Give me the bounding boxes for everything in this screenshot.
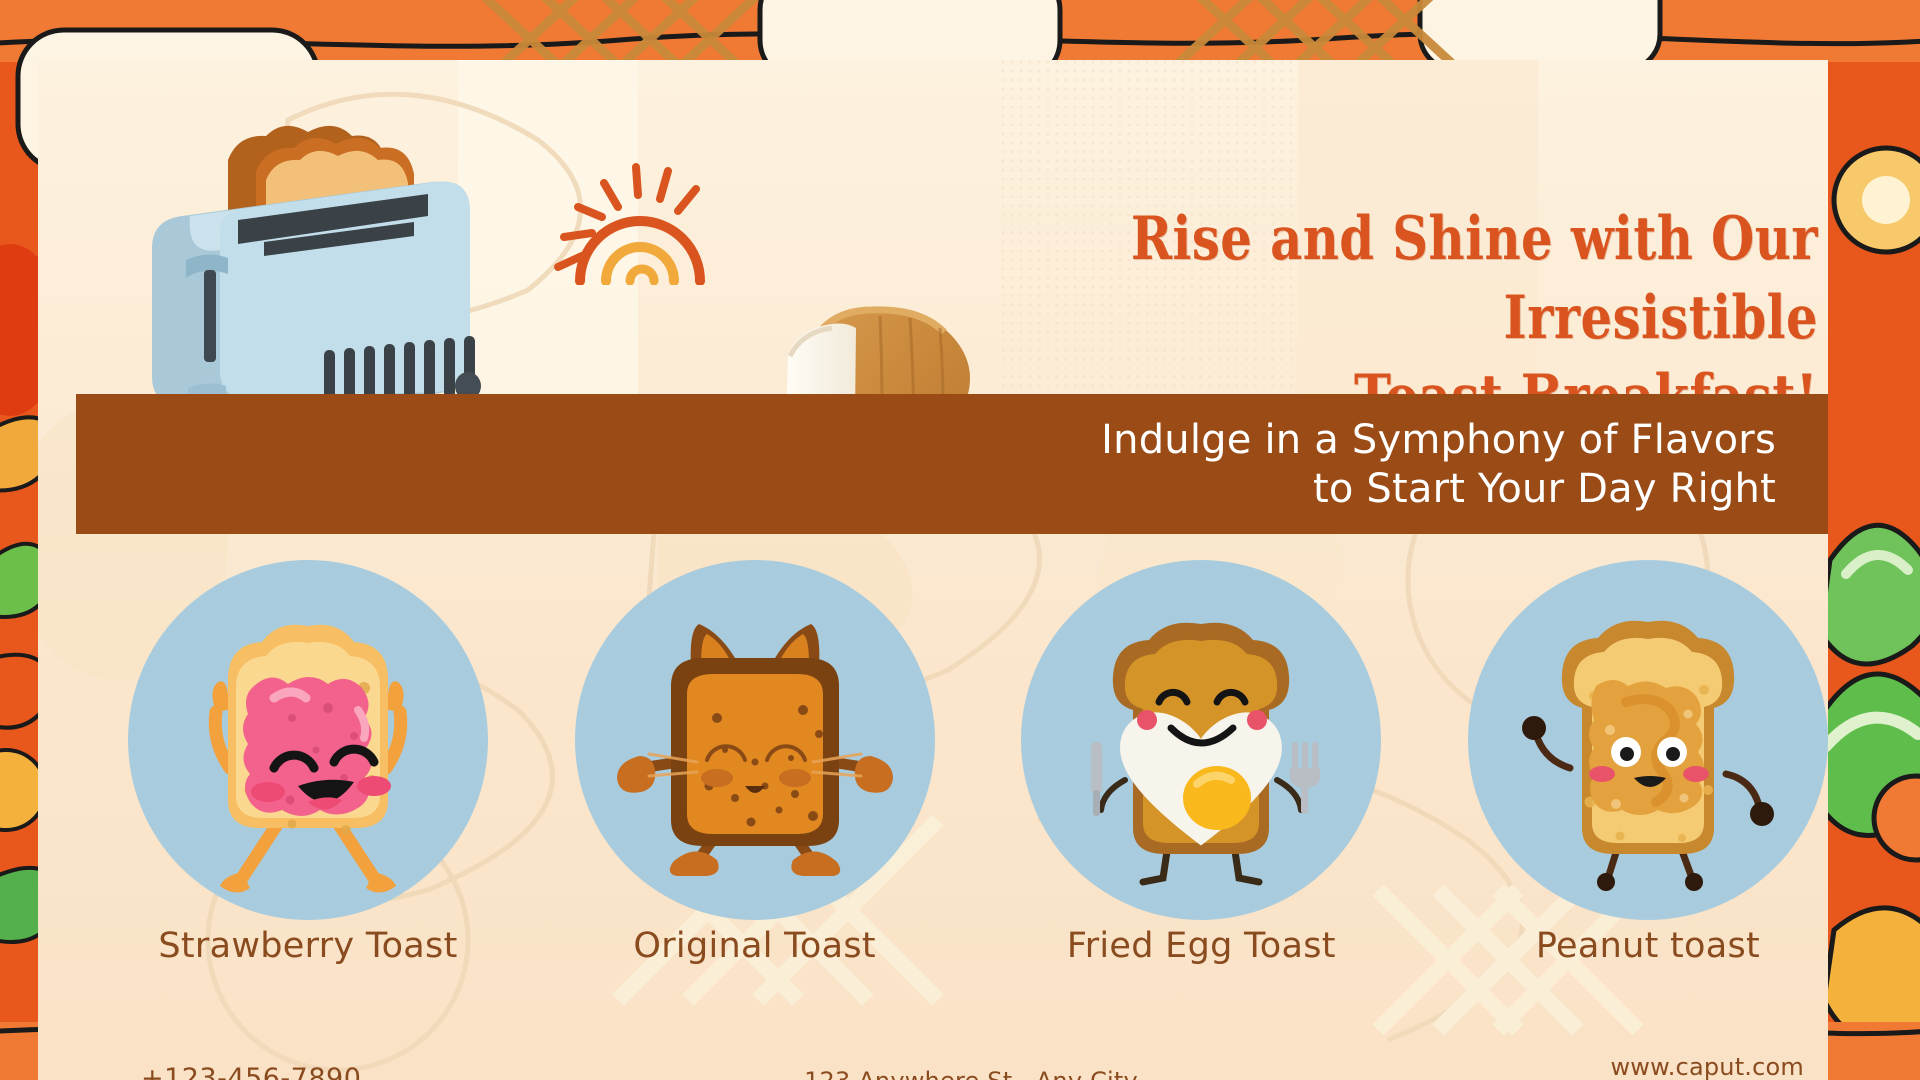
subtitle-line-1: Indulge in a Symphony of Flavors [876,416,1776,465]
product-disc [1021,560,1381,920]
footer-website[interactable]: www.caput.com [1610,1053,1804,1080]
strawberry-toast-mascot-icon [158,590,458,890]
fried-egg-toast-mascot-icon [1051,590,1351,890]
product-item-peanut-toast[interactable]: Peanut toast [1438,560,1828,966]
product-label: Strawberry Toast [98,926,518,966]
cat-toast-mascot-icon [605,590,905,890]
product-item-original-toast[interactable]: Original Toast [545,560,965,966]
poster-canvas: Rise and Shine with Our Irresistible Toa… [0,0,1920,1080]
headline-line-1: Rise and Shine with Our Irresistible [1131,204,1818,353]
poster-card: Rise and Shine with Our Irresistible Toa… [38,60,1828,1080]
product-item-strawberry-toast[interactable]: Strawberry Toast [98,560,518,966]
subtitle-banner: Indulge in a Symphony of Flavors to Star… [76,394,1828,534]
product-list: Strawberry Toast [98,560,1828,980]
peanut-toast-mascot-icon [1498,590,1798,890]
sunrise-doodle-icon [548,155,738,285]
product-label: Original Toast [545,926,965,966]
product-label: Peanut toast [1438,926,1828,966]
footer-phone[interactable]: +123-456-7890 [141,1063,361,1080]
subtitle-line-2: to Start Your Day Right [876,465,1776,514]
product-disc [1468,560,1828,920]
product-disc [575,560,935,920]
subtitle-text: Indulge in a Symphony of Flavors to Star… [876,416,1776,514]
product-label: Fried Egg Toast [991,926,1411,966]
product-disc [128,560,488,920]
footer-contact-bar: +123-456-7890 123 Anywhere St., Any City… [76,1045,1828,1080]
product-item-fried-egg-toast[interactable]: Fried Egg Toast [991,560,1411,966]
footer-address: 123 Anywhere St., Any City [804,1067,1138,1080]
